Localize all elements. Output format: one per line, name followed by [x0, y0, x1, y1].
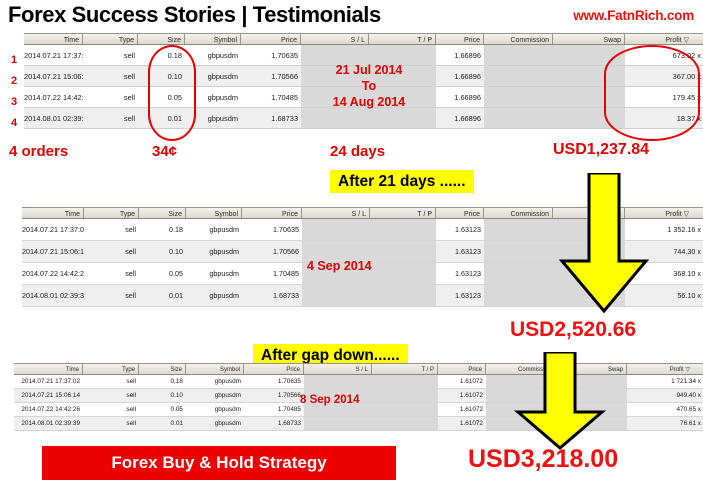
date-range-annotation: 21 Jul 2014 To 14 Aug 2014 — [305, 62, 433, 110]
cell-type: sell — [83, 108, 138, 128]
cell-profit: 76.61 x — [627, 417, 703, 430]
cell-price-open: 1.70485 — [242, 263, 302, 284]
col-sl[interactable]: S / L — [304, 364, 372, 374]
cell-price-open: 1.70485 — [241, 87, 301, 107]
cell-commission — [484, 66, 553, 86]
cell-price-open: 1.70566 — [242, 241, 302, 262]
cell-profit: 18.37 x — [625, 108, 703, 128]
col-profit[interactable]: Profit ▽ — [627, 364, 703, 374]
col-commission[interactable]: Commission — [484, 34, 553, 44]
cell-type: sell — [84, 263, 139, 284]
cell-type: sell — [83, 66, 138, 86]
cell-symbol: gbpusdm — [186, 241, 242, 262]
cell-sl — [302, 219, 370, 240]
row-number-1: 1 — [7, 54, 21, 66]
cell-sl — [302, 285, 370, 306]
cell-symbol: gbpusdm — [185, 66, 241, 86]
col-sl[interactable]: S / L — [301, 34, 369, 44]
cell-symbol: gbpusdm — [185, 87, 241, 107]
date-label-2: 4 Sep 2014 — [307, 259, 372, 273]
cell-tp — [370, 241, 436, 262]
lot-cost-label: 34¢ — [152, 143, 177, 160]
cell-price-open: 1.70635 — [244, 375, 304, 388]
cell-time: 2014.08.01 02:39:39 — [14, 417, 83, 430]
cell-price-open: 1.70635 — [242, 219, 302, 240]
cell-profit: 673.02 x — [625, 45, 703, 65]
cell-commission — [484, 241, 553, 262]
cell-size: 0.05 — [139, 403, 186, 416]
cell-price-open: 1.68733 — [242, 285, 302, 306]
cell-type: sell — [83, 389, 139, 402]
cell-symbol: gbpusdm — [186, 219, 242, 240]
cell-size: 0.10 — [139, 389, 186, 402]
cell-type: sell — [83, 417, 139, 430]
cell-type: sell — [83, 45, 138, 65]
col-symbol[interactable]: Symbol — [186, 208, 242, 218]
cell-type: sell — [83, 87, 138, 107]
cell-price-open: 1.70635 — [241, 45, 301, 65]
cell-time: 2014.07.21 17:37:02 — [22, 219, 84, 240]
col-sl[interactable]: S / L — [302, 208, 370, 218]
cell-commission — [484, 263, 553, 284]
cell-time: 2014.07.22 14:42:26 — [22, 263, 84, 284]
cell-swap — [553, 87, 625, 107]
total-profit-2: USD2,520.66 — [510, 318, 636, 342]
cell-time: 2014.07.22 14:42:26 — [14, 403, 83, 416]
col-tp[interactable]: T / P — [369, 34, 436, 44]
cell-type: sell — [84, 219, 139, 240]
cell-tp — [370, 263, 436, 284]
cell-time: 2014.08.01 02:39:39 — [22, 285, 84, 306]
cell-size: 0.01 — [139, 417, 186, 430]
cell-price-close: 1.66896 — [436, 45, 484, 65]
col-swap[interactable]: Swap — [553, 34, 625, 44]
cell-size: 0.01 — [138, 108, 185, 128]
cell-tp — [372, 417, 438, 430]
col-price-open[interactable]: Price — [241, 34, 301, 44]
cell-type: sell — [83, 403, 139, 416]
cell-type: sell — [84, 285, 139, 306]
cell-tp — [369, 108, 436, 128]
cell-symbol: gbpusdm — [186, 403, 244, 416]
cell-symbol: gbpusdm — [186, 285, 242, 306]
col-type[interactable]: Type — [84, 208, 139, 218]
date-range-line-3: 14 Aug 2014 — [305, 94, 433, 110]
cell-symbol: gbpusdm — [185, 45, 241, 65]
cell-size: 0.10 — [138, 66, 185, 86]
cell-price-open: 1.70566 — [244, 389, 304, 402]
cell-tp — [372, 389, 438, 402]
cell-price-close: 1.63123 — [436, 219, 484, 240]
total-profit-1: USD1,237.84 — [553, 141, 649, 159]
cell-time: 2014.07.21 15:06:14 — [14, 389, 83, 402]
table-row[interactable]: 2014.08.01 02:39:39sell0.01gbpusdm1.6873… — [24, 108, 703, 129]
cell-commission — [484, 87, 553, 107]
col-price-close[interactable]: Price — [436, 34, 484, 44]
cell-size: 0.05 — [139, 263, 186, 284]
col-tp[interactable]: T / P — [372, 364, 438, 374]
cell-price-close: 1.63123 — [436, 263, 484, 284]
cell-swap — [553, 45, 625, 65]
cell-profit: 470.65 x — [627, 403, 703, 416]
col-price-open[interactable]: Price — [244, 364, 304, 374]
cell-tp — [370, 285, 436, 306]
slide-canvas: Forex Success Stories | Testimonials www… — [0, 0, 703, 486]
cell-price-close: 1.63123 — [436, 241, 484, 262]
cell-price-open: 1.68733 — [241, 108, 301, 128]
cell-symbol: gbpusdm — [186, 375, 244, 388]
cell-size: 0.18 — [139, 375, 186, 388]
cell-time: 2014.07.21 15:06:14 — [24, 66, 83, 86]
strategy-banner: Forex Buy & Hold Strategy — [42, 446, 396, 480]
col-symbol[interactable]: Symbol — [186, 364, 244, 374]
cell-time: 2014.07.21 17:37:02 — [14, 375, 83, 388]
cell-symbol: gbpusdm — [186, 389, 244, 402]
cell-commission — [484, 108, 553, 128]
cell-price-close: 1.66896 — [436, 66, 484, 86]
col-size[interactable]: Size — [139, 364, 186, 374]
date-range-line-2: To — [305, 78, 433, 94]
cell-swap — [553, 66, 625, 86]
cell-symbol: gbpusdm — [185, 108, 241, 128]
orders-count-label: 4 orders — [9, 143, 68, 160]
duration-label: 24 days — [330, 143, 385, 160]
down-arrow-2 — [473, 352, 609, 450]
cell-price-close: 1.66896 — [436, 87, 484, 107]
col-size[interactable]: Size — [139, 208, 186, 218]
total-profit-3: USD3,218.00 — [468, 445, 618, 474]
cell-time: 2014.07.22 14:42:26 — [24, 87, 83, 107]
cell-size: 0.01 — [139, 285, 186, 306]
cell-commission — [484, 45, 553, 65]
col-tp[interactable]: T / P — [370, 208, 436, 218]
cell-type: sell — [83, 375, 139, 388]
cell-tp — [370, 219, 436, 240]
col-commission[interactable]: Commission — [484, 208, 553, 218]
cell-sl — [301, 108, 369, 128]
cell-profit: 367.00 x — [625, 66, 703, 86]
cell-time: 2014.07.21 17:37:02 — [24, 45, 83, 65]
col-symbol[interactable]: Symbol — [185, 34, 241, 44]
col-time[interactable]: Time — [22, 208, 84, 218]
cell-symbol: gbpusdm — [186, 263, 242, 284]
col-time[interactable]: Time — [14, 364, 83, 374]
cell-size: 0.10 — [139, 241, 186, 262]
cell-price-close: 1.66896 — [436, 108, 484, 128]
cell-type: sell — [84, 241, 139, 262]
col-time[interactable]: Time — [24, 34, 83, 44]
cell-commission — [484, 285, 553, 306]
cell-profit: 949.40 x — [627, 389, 703, 402]
date-range-line-1: 21 Jul 2014 — [305, 62, 433, 78]
row-number-2: 2 — [7, 75, 21, 87]
page-title: Forex Success Stories | Testimonials — [8, 2, 381, 28]
col-type[interactable]: Type — [83, 34, 138, 44]
website-label: www.FatnRich.com — [573, 8, 694, 23]
cell-price-open: 1.70566 — [241, 66, 301, 86]
cell-time: 2014.07.21 15:06:14 — [22, 241, 84, 262]
cell-time: 2014.08.01 02:39:39 — [24, 108, 83, 128]
cell-price-open: 1.70485 — [244, 403, 304, 416]
table-header-row: Time Type Size Symbol Price S / L T / P … — [24, 33, 703, 45]
col-size[interactable]: Size — [138, 34, 185, 44]
col-price-close[interactable]: Price — [436, 208, 484, 218]
row-number-4: 4 — [7, 117, 21, 129]
callout-after-21-days: After 21 days ...... — [330, 170, 474, 193]
cell-size: 0.18 — [139, 219, 186, 240]
date-label-3: 8 Sep 2014 — [300, 394, 359, 406]
col-type[interactable]: Type — [83, 364, 139, 374]
cell-price-close: 1.63123 — [436, 285, 484, 306]
cell-commission — [484, 219, 553, 240]
cell-symbol: gbpusdm — [186, 417, 244, 430]
cell-sl — [304, 375, 372, 388]
col-price-open[interactable]: Price — [242, 208, 302, 218]
cell-sl — [304, 417, 372, 430]
cell-profit: 179.45 x — [625, 87, 703, 107]
cell-size: 0.18 — [138, 45, 185, 65]
cell-tp — [372, 375, 438, 388]
cell-swap — [553, 108, 625, 128]
cell-price-open: 1.68733 — [244, 417, 304, 430]
row-number-3: 3 — [7, 96, 21, 108]
cell-size: 0.05 — [138, 87, 185, 107]
cell-tp — [372, 403, 438, 416]
cell-profit: 1 721.34 x — [627, 375, 703, 388]
col-profit[interactable]: Profit ▽ — [625, 34, 703, 44]
down-arrow-1 — [556, 173, 652, 313]
